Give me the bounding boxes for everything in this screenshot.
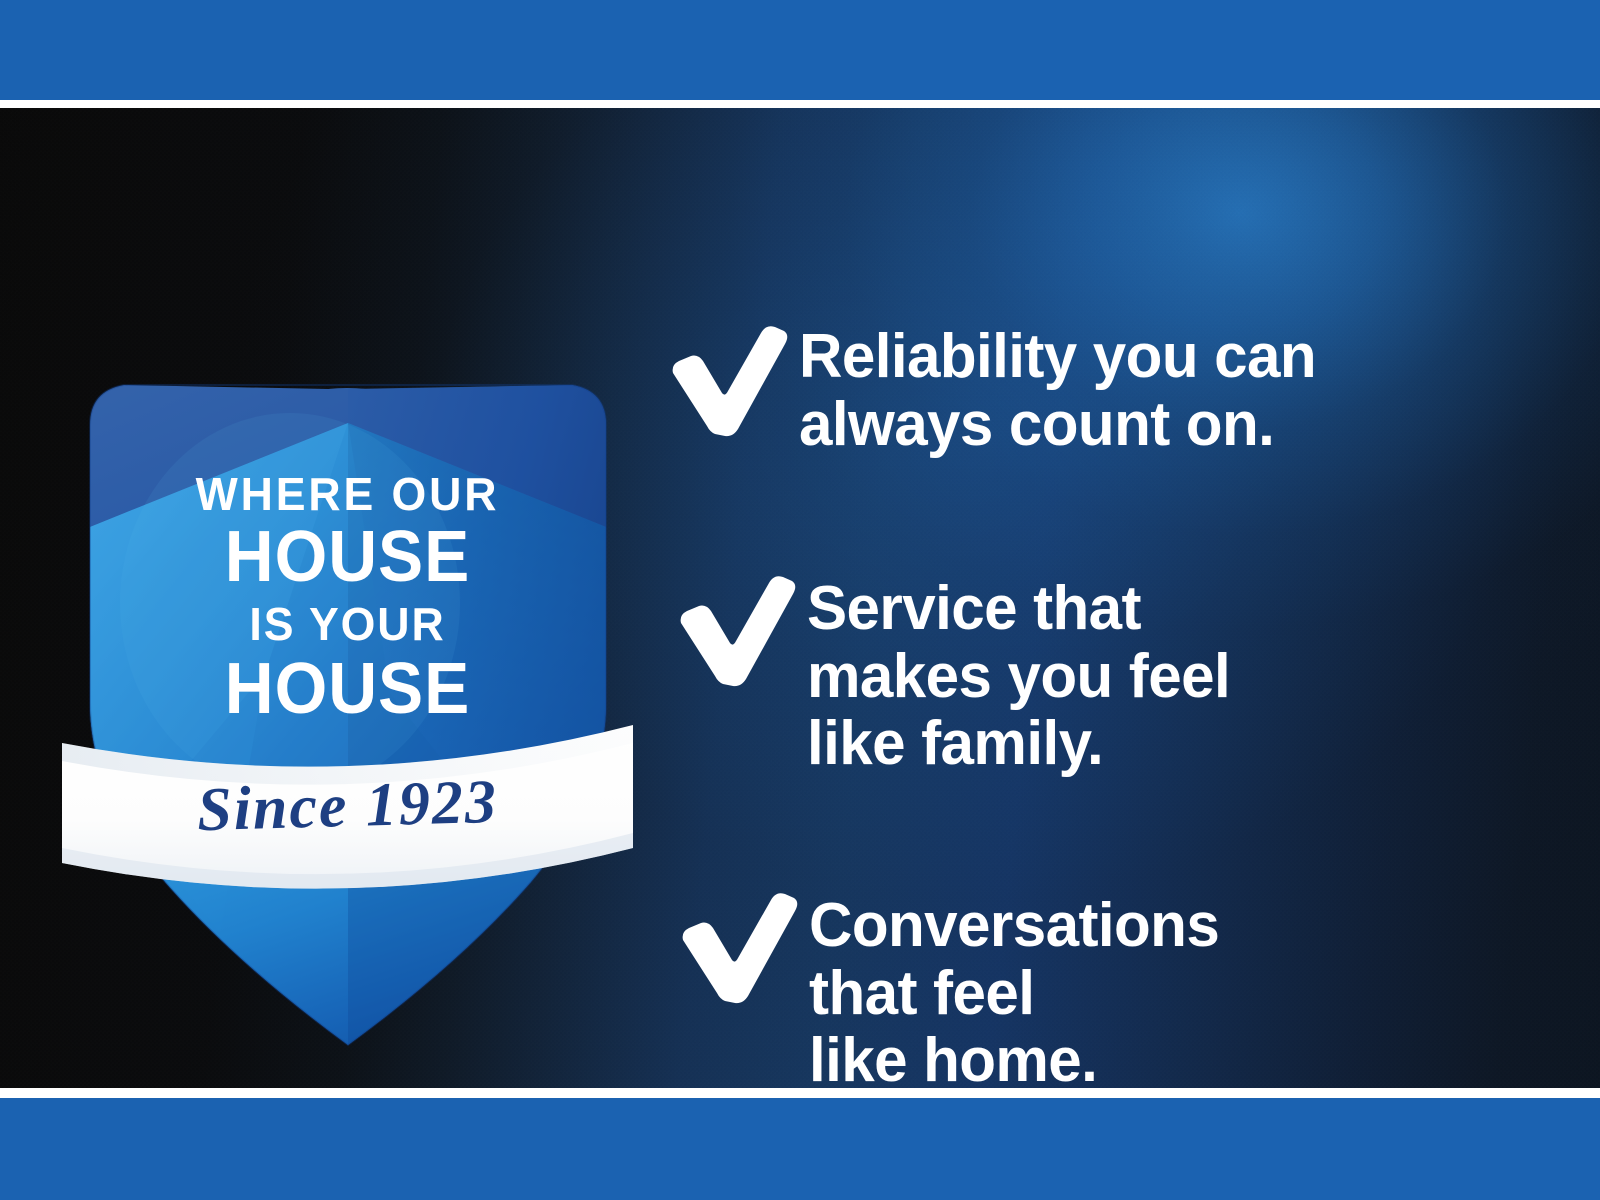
shield-badge-logo: Where Our House Is Your House Since 1923 — [60, 273, 635, 938]
list-item: Conversations that feel like home. — [675, 888, 1232, 1088]
badge-line-4: House — [77, 653, 618, 725]
list-item-text: Service that makes you feel like family. — [807, 571, 1230, 778]
checkmark-icon — [665, 321, 789, 439]
benefits-list: Reliability you can always count on. Ser… — [665, 216, 1565, 1088]
list-item: Reliability you can always count on. — [665, 321, 1332, 458]
badge-line-2: House — [77, 521, 618, 593]
main-canvas: Where Our House Is Your House Since 1923… — [0, 108, 1600, 1088]
checkmark-icon — [673, 571, 797, 689]
list-item: Service that makes you feel like family. — [673, 571, 1243, 778]
promo-graphic: Where Our House Is Your House Since 1923… — [0, 0, 1600, 1200]
badge-line-3: Is Your — [69, 601, 627, 647]
list-item-text: Conversations that feel like home. — [809, 888, 1219, 1088]
bottom-brand-bar — [0, 1098, 1600, 1200]
checkmark-icon — [675, 888, 799, 1006]
top-brand-bar — [0, 0, 1600, 100]
badge-line-1: Where Our — [69, 471, 627, 517]
list-item-text: Reliability you can always count on. — [799, 321, 1316, 458]
